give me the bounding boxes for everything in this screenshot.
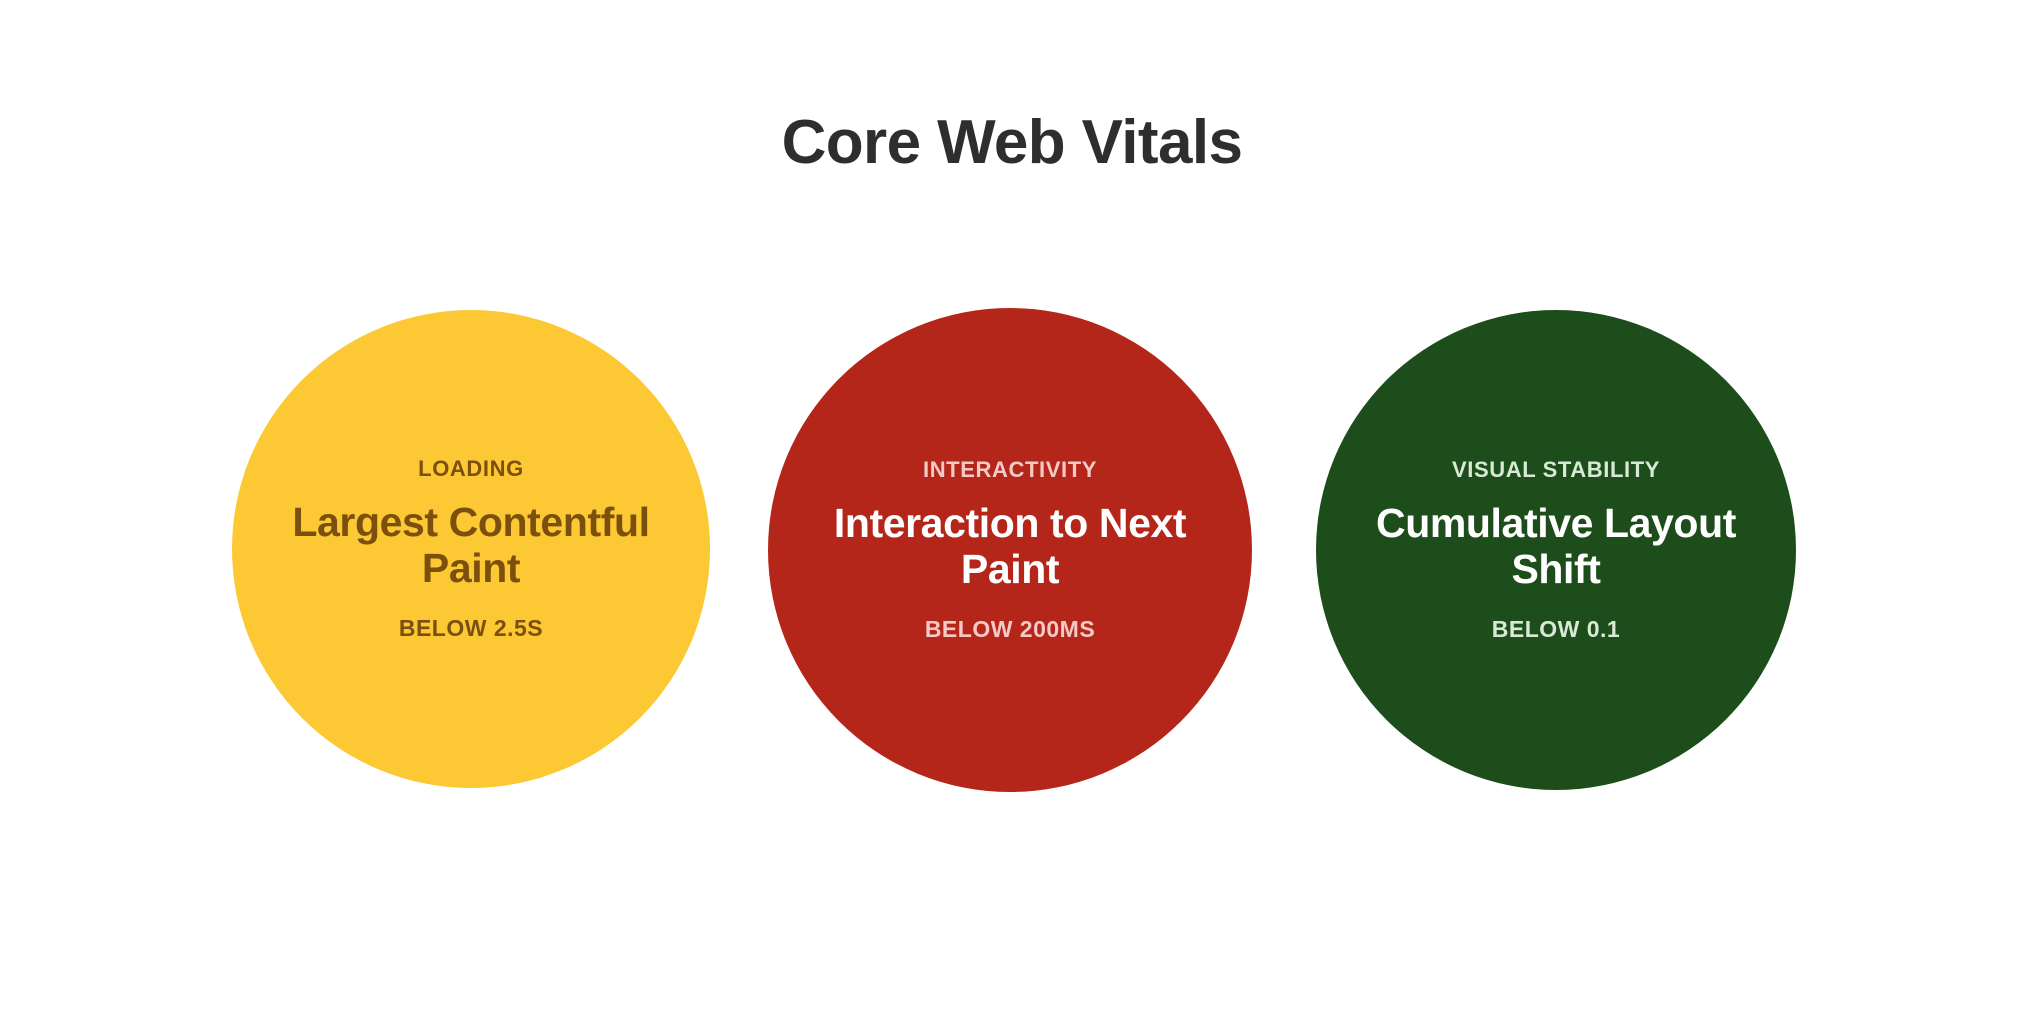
vital-metric-name: Cumulative Layout Shift: [1356, 501, 1756, 593]
vital-metric-name: Largest Contentful Paint: [271, 500, 671, 592]
vital-threshold-value: BELOW 2.5S: [399, 617, 543, 640]
vital-card-interaction-to-next-paint[interactable]: INTERACTIVITY Interaction to Next Paint …: [768, 308, 1252, 792]
vital-card-largest-contentful-paint[interactable]: LOADING Largest Contentful Paint BELOW 2…: [232, 310, 710, 788]
vital-category-label: LOADING: [418, 458, 524, 480]
vitals-circle-row: LOADING Largest Contentful Paint BELOW 2…: [0, 310, 2024, 800]
vital-category-label: VISUAL STABILITY: [1452, 459, 1660, 481]
vital-category-label: INTERACTIVITY: [923, 459, 1097, 481]
vital-threshold-value: BELOW 0.1: [1492, 618, 1620, 641]
vital-card-cumulative-layout-shift[interactable]: VISUAL STABILITY Cumulative Layout Shift…: [1316, 310, 1796, 790]
vital-metric-name: Interaction to Next Paint: [810, 501, 1210, 593]
vital-threshold-value: BELOW 200MS: [925, 618, 1095, 641]
page-title: Core Web Vitals: [0, 112, 2024, 174]
core-web-vitals-infographic: Core Web Vitals LOADING Largest Contentf…: [0, 0, 2024, 1012]
